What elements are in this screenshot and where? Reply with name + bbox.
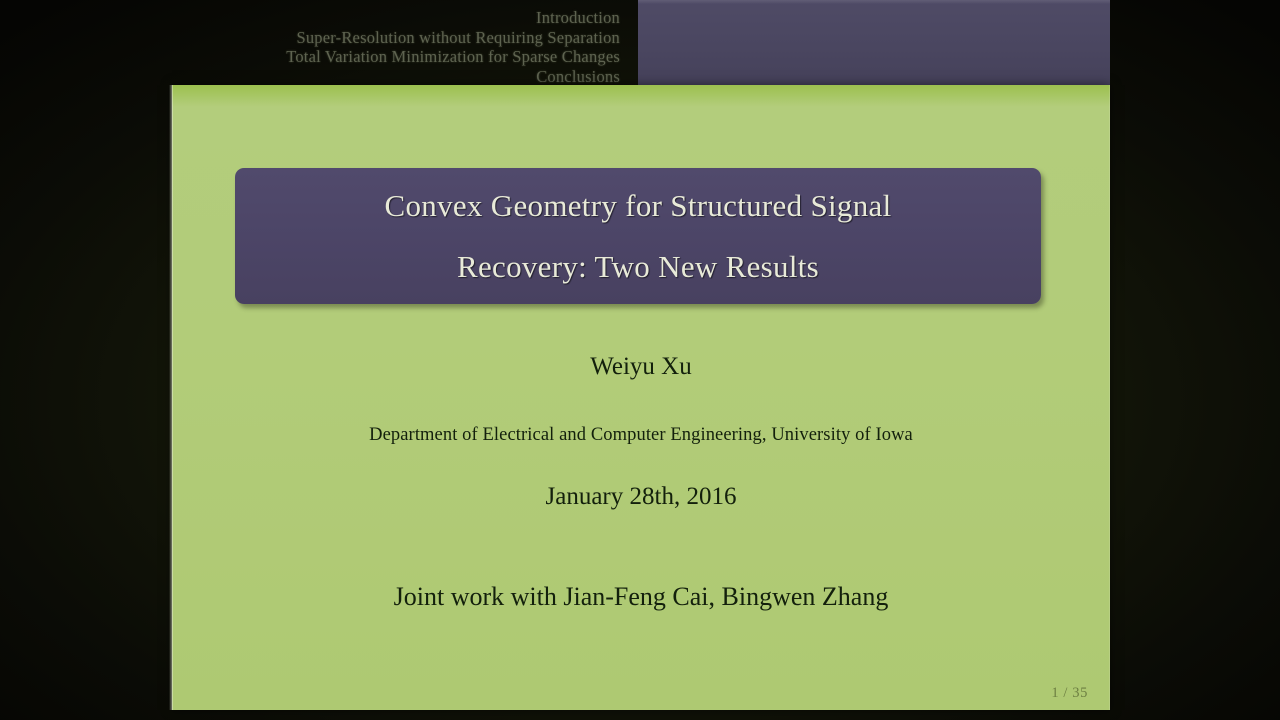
page-number: 1 / 35 [1051,685,1088,702]
navigation-bar-sheen [638,0,1110,4]
headline-item-total-variation[interactable]: Total Variation Minimization for Sparse … [0,47,620,67]
presentation-screen: Introduction Super-Resolution without Re… [0,0,1280,720]
presentation-date: January 28th, 2016 [172,483,1110,511]
headline-item-introduction[interactable]: Introduction [0,8,620,28]
joint-work-credit: Joint work with Jian-Feng Cai, Bingwen Z… [172,582,1110,612]
slide-title-plate: Convex Geometry for Structured Signal Re… [235,168,1041,304]
author-name: Weiyu Xu [172,353,1110,381]
headline-item-super-resolution[interactable]: Super-Resolution without Requiring Separ… [0,28,620,48]
author-affiliation: Department of Electrical and Computer En… [172,425,1110,446]
slide-title-line-2: Recovery: Two New Results [457,251,819,282]
headline-item-conclusions[interactable]: Conclusions [0,67,620,87]
slide-edge-highlight [169,85,172,710]
beamer-headline: Introduction Super-Resolution without Re… [0,8,620,86]
slide-canvas: Convex Geometry for Structured Signal Re… [172,85,1110,710]
slide-title-line-1: Convex Geometry for Structured Signal [385,190,892,221]
navigation-bar-block[interactable] [638,0,1110,86]
